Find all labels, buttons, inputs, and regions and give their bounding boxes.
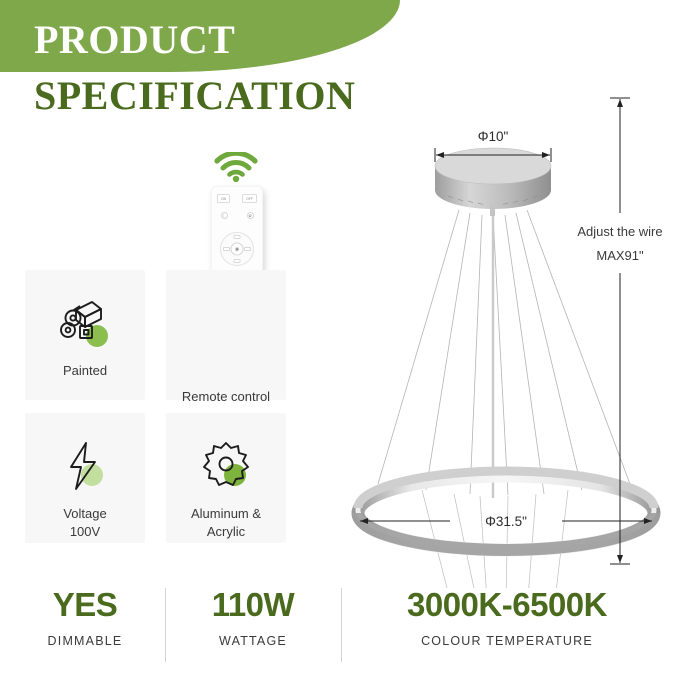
spec-divider-2 <box>341 588 342 662</box>
spec-dimmable-value: YES <box>10 588 160 621</box>
feature-card-painted: Painted <box>25 270 145 400</box>
spec-wattage: 110W WATTAGE <box>178 588 328 648</box>
spec-divider-1 <box>165 588 166 662</box>
dpad-up-button[interactable] <box>234 235 241 239</box>
feature-card-painted-label: Painted <box>25 362 145 380</box>
material-label-line1: Aluminum & <box>166 505 286 523</box>
spec-colour-temperature: 3000K-6500K COLOUR TEMPERATURE <box>352 588 662 648</box>
ceiling-canopy <box>435 148 551 216</box>
voltage-label-line1: Voltage <box>25 505 145 523</box>
wifi-signal-icon <box>213 152 259 182</box>
dpad-center-button[interactable]: ◉ <box>231 243 244 256</box>
spec-summary-row: YES DIMMABLE 110W WATTAGE 3000K-6500K CO… <box>0 580 679 670</box>
leaf-icon[interactable]: ✿ <box>247 212 254 219</box>
remote-power-row: ON OFF <box>211 194 263 203</box>
remote-off-button[interactable]: OFF <box>242 194 257 203</box>
spec-wattage-label: WATTAGE <box>178 634 328 648</box>
spec-dimmable: YES DIMMABLE <box>10 588 160 648</box>
dimension-label-canopy: Φ10" <box>478 129 509 144</box>
dpad-left-button[interactable] <box>223 247 230 251</box>
ring-1 <box>358 471 654 550</box>
gear-icon <box>197 439 255 493</box>
spec-wattage-value: 110W <box>178 588 328 621</box>
remote-dpad[interactable]: ◉ <box>220 232 254 266</box>
dpad-right-button[interactable] <box>244 247 251 251</box>
wire-note-line2: MAX91" <box>596 248 644 263</box>
spec-dimmable-label: DIMMABLE <box>10 634 160 648</box>
remote-on-button[interactable]: ON <box>217 194 230 203</box>
feature-card-material-label: Aluminum & Acrylic <box>166 505 286 540</box>
remote-mode-row: ☾ ✿ <box>211 212 263 219</box>
chandelier-diagram: Φ10" Adjust the wire MAX91" Φ31.5" Φ23.7… <box>330 58 679 588</box>
spec-colour-temperature-value: 3000K-6500K <box>352 588 662 621</box>
dpad-down-button[interactable] <box>234 259 241 263</box>
feature-card-voltage-label: Voltage 100V <box>25 505 145 540</box>
feature-card-material: Aluminum & Acrylic <box>166 413 286 543</box>
feature-card-voltage: Voltage 100V <box>25 413 145 543</box>
wire-note-line1: Adjust the wire <box>577 224 662 239</box>
moon-icon[interactable]: ☾ <box>221 212 228 219</box>
paint-roller-icon <box>56 296 114 350</box>
spec-colour-temperature-label: COLOUR TEMPERATURE <box>352 634 662 648</box>
page-title-line2: SPECIFICATION <box>34 76 355 116</box>
page-title-line1: PRODUCT <box>34 20 235 60</box>
feature-card-remote-control-label: Remote control <box>166 388 286 406</box>
dimension-label-ring-1: Φ31.5" <box>485 514 527 529</box>
feature-card-remote-control: Remote control <box>166 270 286 400</box>
material-label-line2: Acrylic <box>166 523 286 541</box>
lightning-bolt-icon <box>56 439 114 493</box>
voltage-label-line2: 100V <box>25 523 145 541</box>
